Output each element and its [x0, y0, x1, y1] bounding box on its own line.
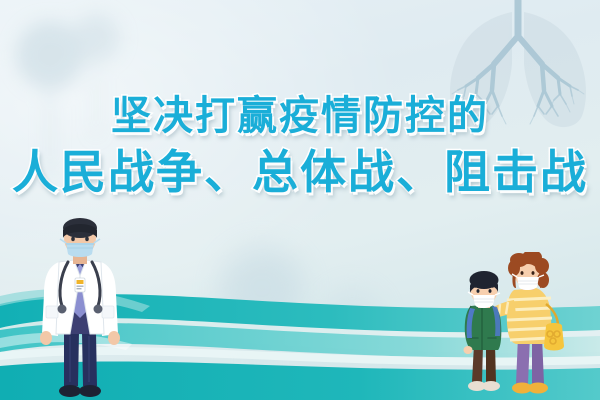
- stethoscope-bell: [58, 305, 67, 314]
- boy-figure: [464, 271, 502, 391]
- family-figures: [462, 252, 600, 400]
- poster-banner: 坚决打赢疫情防控的 人民战争、总体战、阻击战: [0, 0, 600, 400]
- doctor-id-badge: [75, 278, 85, 292]
- mother-sweater: [507, 288, 551, 344]
- doctor-legs: [64, 332, 97, 386]
- doctor-figure: [26, 214, 134, 400]
- doctor-shoes: [59, 385, 101, 397]
- doctor-head: [60, 218, 100, 257]
